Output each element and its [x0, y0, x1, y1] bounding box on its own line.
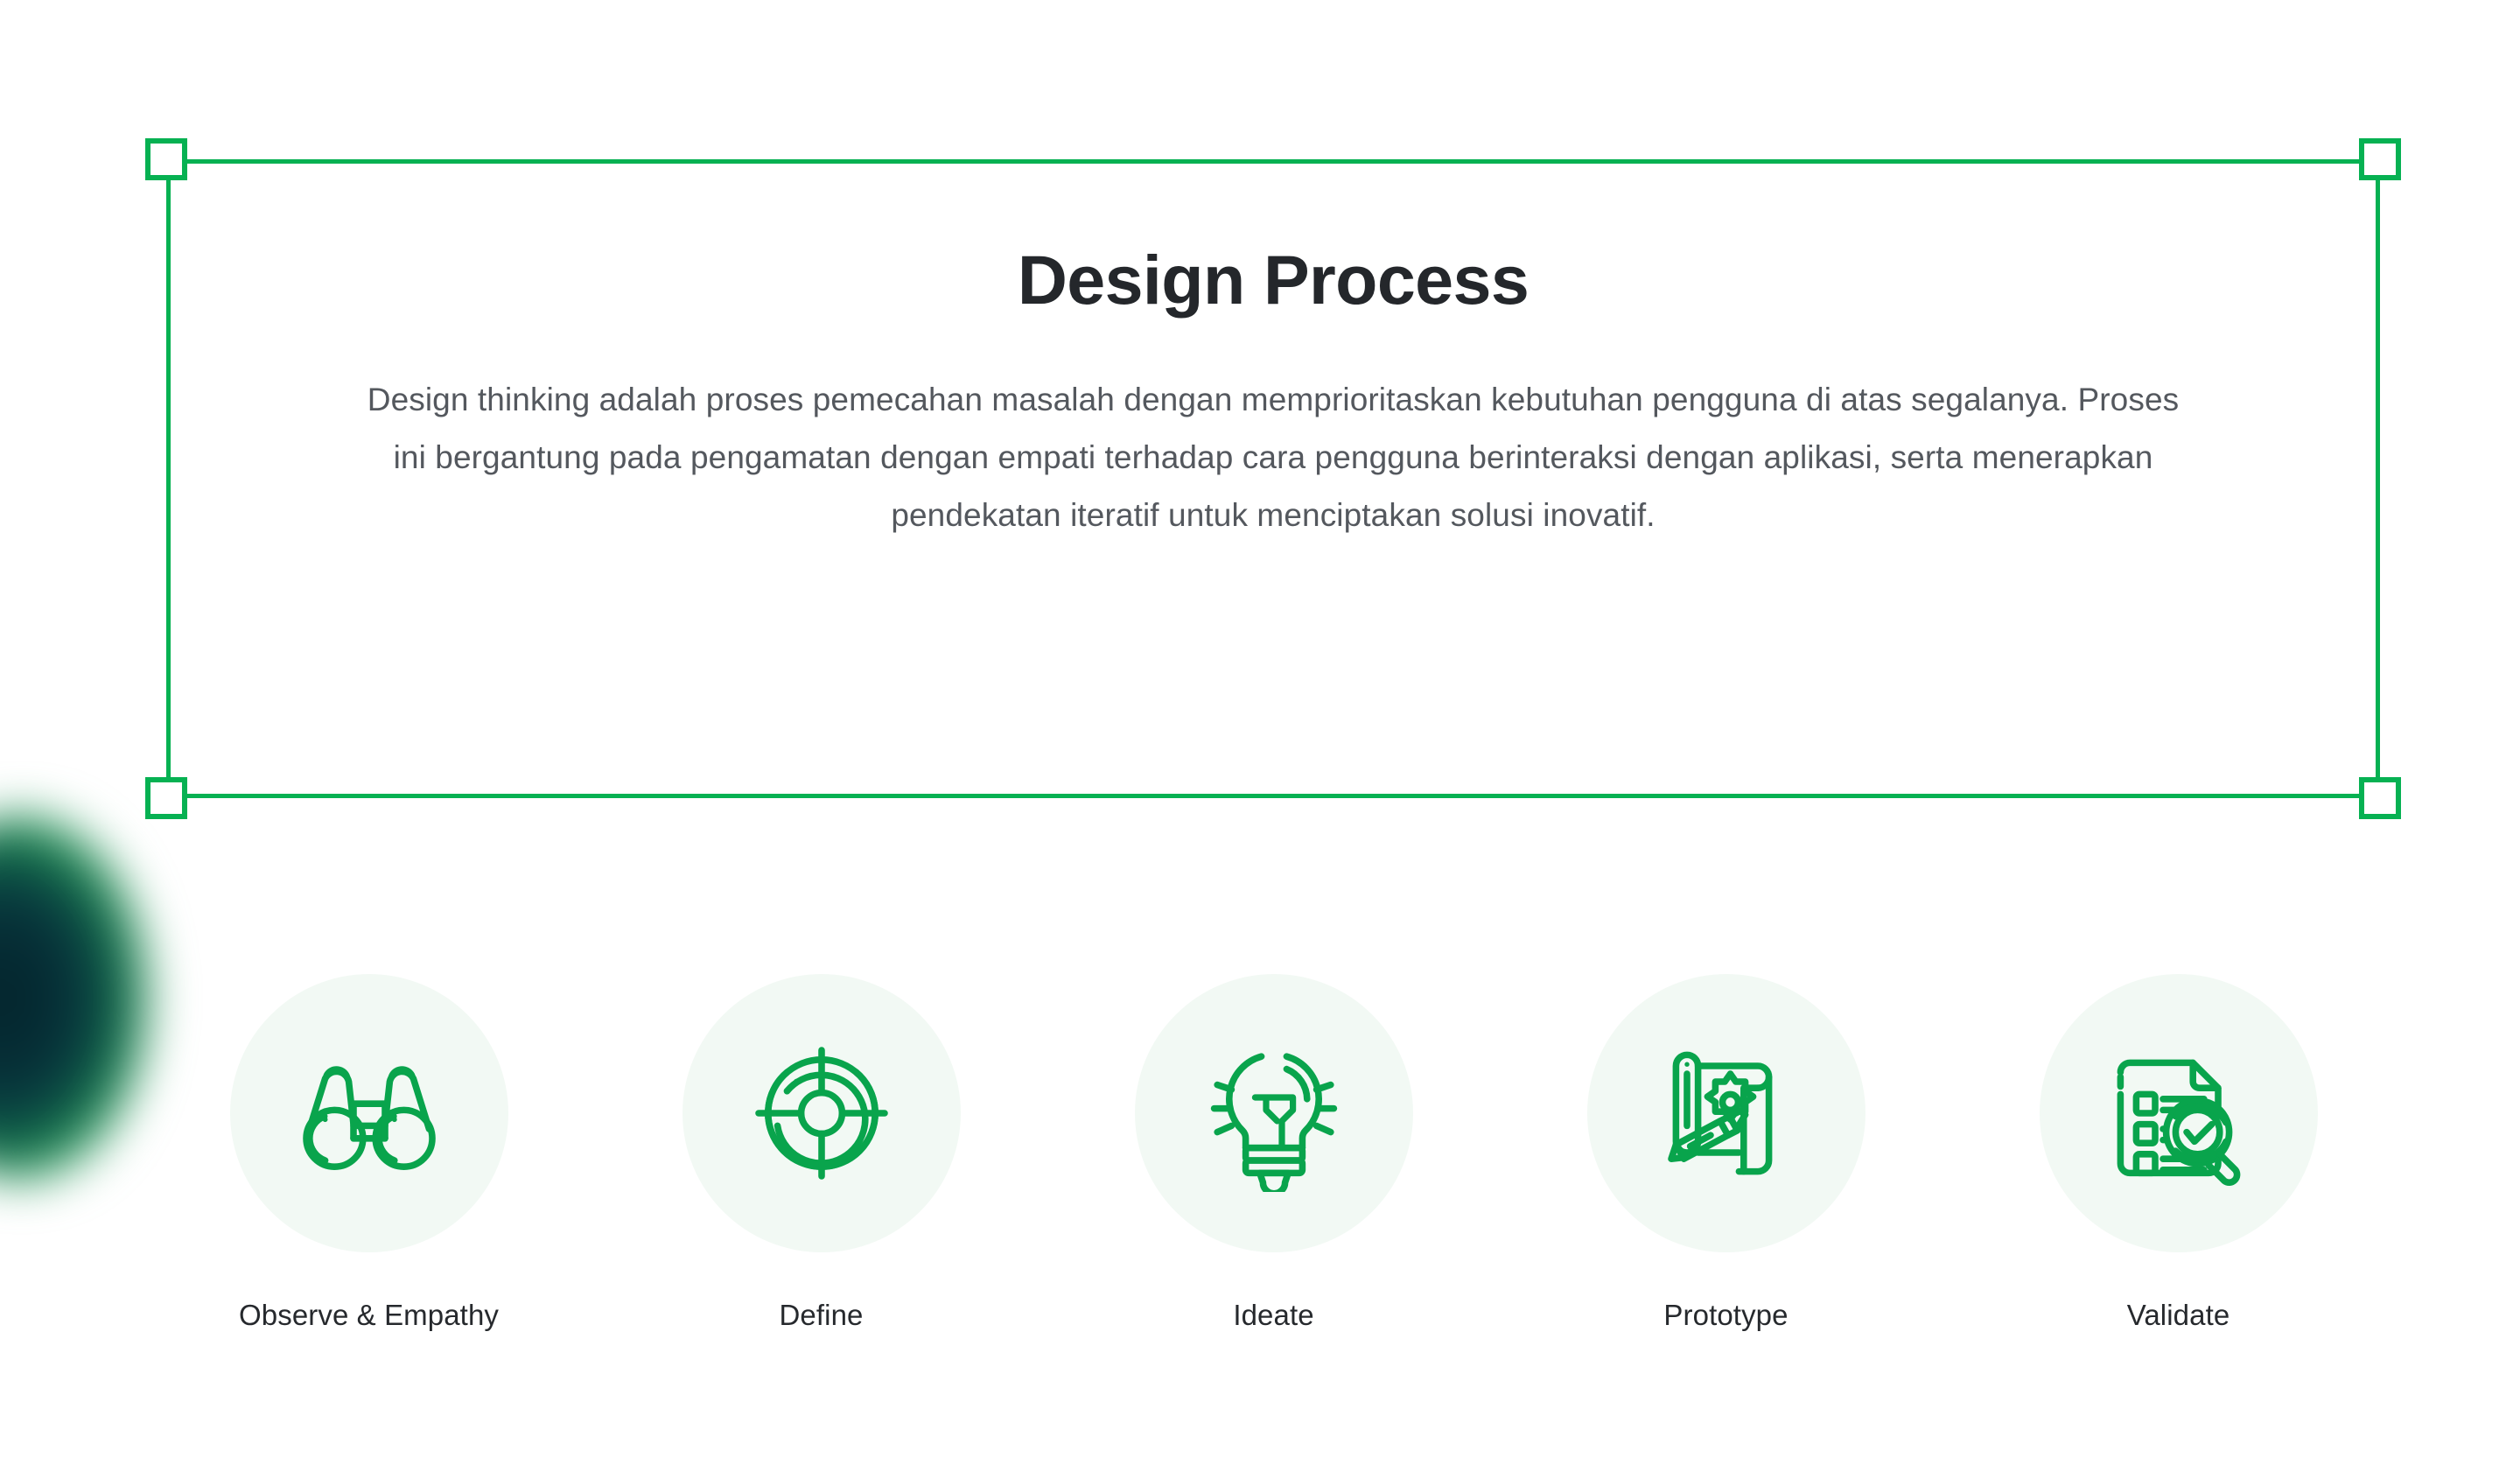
step-prototype[interactable]: Prototype [1500, 974, 1952, 1332]
icon-badge-validate [2040, 974, 2318, 1252]
icon-badge-prototype [1587, 974, 1865, 1252]
step-label-define: Define [780, 1299, 864, 1332]
step-label-observe-empathy: Observe & Empathy [239, 1299, 499, 1332]
orb-gradient [0, 814, 149, 1181]
page-title: Design Process [1018, 244, 1529, 317]
decorative-orb [0, 814, 149, 1181]
step-label-ideate: Ideate [1233, 1299, 1313, 1332]
document-checklist-magnifier-icon [2100, 1034, 2257, 1192]
step-validate[interactable]: Validate [1952, 974, 2404, 1332]
step-label-prototype: Prototype [1663, 1299, 1788, 1332]
icon-badge-observe-empathy [230, 974, 508, 1252]
binoculars-icon [290, 1034, 448, 1192]
target-crosshair-icon [743, 1034, 900, 1192]
slide-canvas: Design Process Design thinking adalah pr… [0, 0, 2520, 1479]
process-steps-row: Observe & Empathy Define [143, 974, 2404, 1332]
blueprint-gear-pencil-icon [1648, 1034, 1805, 1192]
frame-text-content: Design Process Design thinking adalah pr… [166, 159, 2380, 798]
step-label-validate: Validate [2127, 1299, 2230, 1332]
step-ideate[interactable]: Ideate [1047, 974, 1500, 1332]
lightbulb-icon [1195, 1034, 1353, 1192]
selection-frame[interactable]: Design Process Design thinking adalah pr… [166, 159, 2380, 798]
step-observe-empathy[interactable]: Observe & Empathy [143, 974, 595, 1332]
page-description: Design thinking adalah proses pemecahan … [354, 371, 2192, 544]
icon-badge-ideate [1135, 974, 1413, 1252]
icon-badge-define [682, 974, 961, 1252]
step-define[interactable]: Define [595, 974, 1047, 1332]
